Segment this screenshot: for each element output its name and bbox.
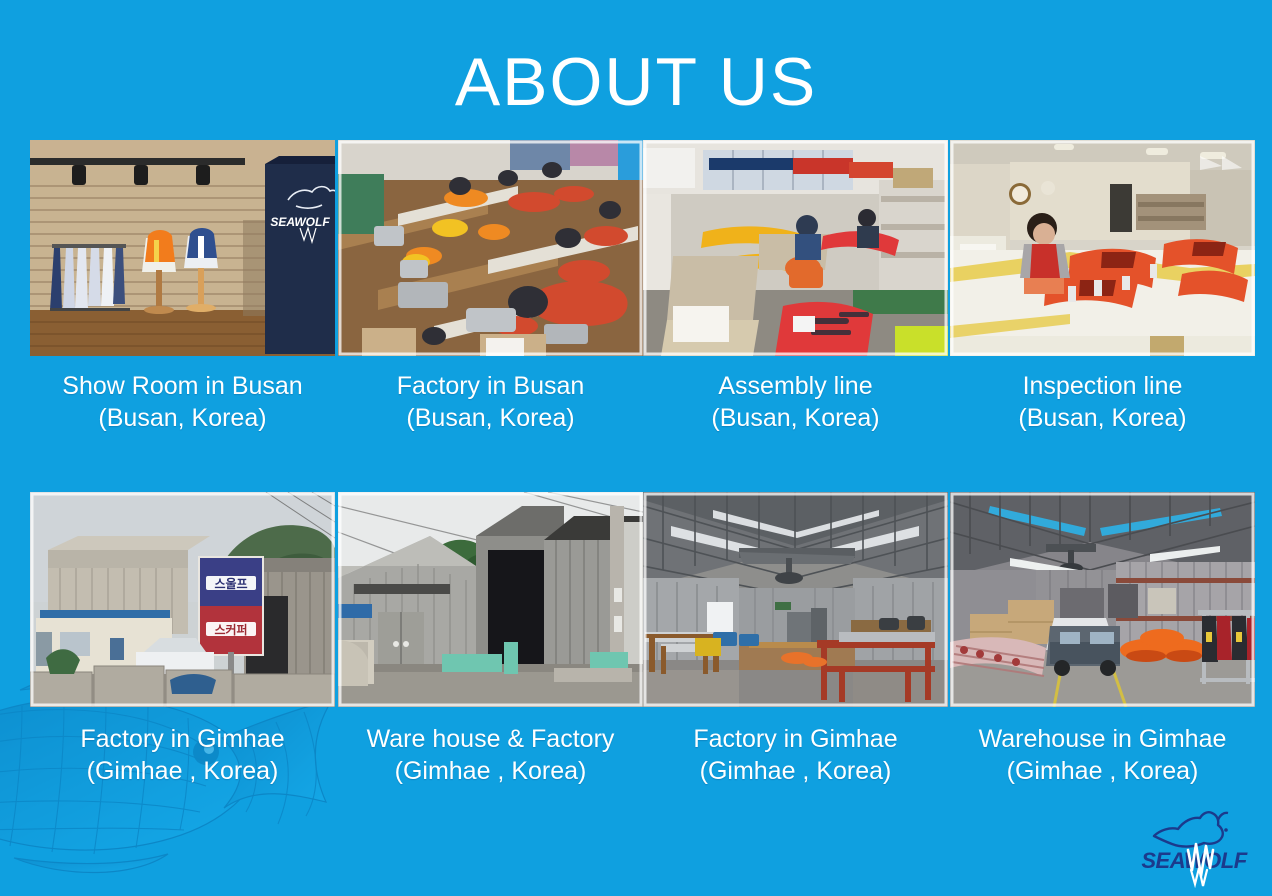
photo-caption: Factory in Busan(Busan, Korea) xyxy=(338,370,643,434)
photo-warehouse-gimhae-interior[interactable] xyxy=(950,492,1255,707)
svg-text:스커퍼: 스커퍼 xyxy=(214,622,247,637)
photo-show-room-busan[interactable]: SEAWOLF xyxy=(30,140,335,356)
photo-factory-busan[interactable] xyxy=(338,140,643,356)
photo-caption: Warehouse in Gimhae(Gimhae , Korea) xyxy=(950,723,1255,787)
caption-line-1: Factory in Gimhae xyxy=(693,725,897,753)
photo-assembly-line[interactable] xyxy=(643,140,948,356)
caption-line-1: Factory in Busan xyxy=(397,372,585,400)
caption-line-1: Factory in Gimhae xyxy=(80,725,284,753)
caption-line-2: (Gimhae , Korea) xyxy=(87,757,279,785)
caption-line-2: (Busan, Korea) xyxy=(711,404,879,432)
caption-line-1: Assembly line xyxy=(718,372,872,400)
caption-line-1: Show Room in Busan xyxy=(62,372,302,400)
caption-line-1: Ware house & Factory xyxy=(367,725,615,753)
caption-line-2: (Gimhae , Korea) xyxy=(395,757,587,785)
slide-canvas: ABOUT US xyxy=(0,0,1272,896)
photo-cell-inspection-line[interactable]: Inspection line(Busan, Korea) xyxy=(950,140,1255,434)
photo-cell-factory-busan[interactable]: Factory in Busan(Busan, Korea) xyxy=(338,140,643,434)
photo-factory-gimhae-interior[interactable] xyxy=(643,492,948,707)
wolf-silhouette-icon xyxy=(1154,812,1228,846)
photo-warehouse-factory-gimhae[interactable] xyxy=(338,492,643,707)
seawolf-logo: SEAWOLF xyxy=(1134,806,1254,888)
photo-caption: Factory in Gimhae(Gimhae , Korea) xyxy=(30,723,335,787)
photo-cell-warehouse-gimhae-interior[interactable]: Warehouse in Gimhae(Gimhae , Korea) xyxy=(950,492,1255,787)
photo-cell-show-room-busan[interactable]: SEAWOLF Show Room in Busan(Busan, Korea) xyxy=(30,140,335,434)
caption-line-2: (Gimhae , Korea) xyxy=(700,757,892,785)
photo-caption: Assembly line(Busan, Korea) xyxy=(643,370,948,434)
caption-line-1: Warehouse in Gimhae xyxy=(979,725,1227,753)
photo-caption: Factory in Gimhae(Gimhae , Korea) xyxy=(643,723,948,787)
photo-cell-assembly-line[interactable]: Assembly line(Busan, Korea) xyxy=(643,140,948,434)
caption-line-2: (Busan, Korea) xyxy=(406,404,574,432)
photo-inspection-line[interactable] xyxy=(950,140,1255,356)
photo-row-bottom: 스울프 스커퍼 xyxy=(0,492,1272,844)
photo-cell-factory-gimhae-exterior[interactable]: 스울프 스커퍼 xyxy=(30,492,335,787)
caption-line-2: (Busan, Korea) xyxy=(1018,404,1186,432)
photo-cell-warehouse-factory-gimhae[interactable]: Ware house & Factory(Gimhae , Korea) xyxy=(338,492,643,787)
caption-line-2: (Gimhae , Korea) xyxy=(1007,757,1199,785)
caption-line-2: (Busan, Korea) xyxy=(98,404,266,432)
photo-factory-gimhae-exterior[interactable]: 스울프 스커퍼 xyxy=(30,492,335,707)
photo-caption: Inspection line(Busan, Korea) xyxy=(950,370,1255,434)
svg-text:스울프: 스울프 xyxy=(214,577,247,591)
photo-caption: Ware house & Factory(Gimhae , Korea) xyxy=(338,723,643,787)
svg-text:SEAWOLF: SEAWOLF xyxy=(270,215,330,229)
photo-caption: Show Room in Busan(Busan, Korea) xyxy=(30,370,335,434)
photo-cell-factory-gimhae-interior[interactable]: Factory in Gimhae(Gimhae , Korea) xyxy=(643,492,948,787)
photo-row-top: SEAWOLF Show Room in Busan(Busan, Korea) xyxy=(0,140,1272,492)
photo-grid: SEAWOLF Show Room in Busan(Busan, Korea) xyxy=(0,140,1272,844)
page-title: ABOUT US xyxy=(0,48,1272,116)
caption-line-1: Inspection line xyxy=(1023,372,1183,400)
